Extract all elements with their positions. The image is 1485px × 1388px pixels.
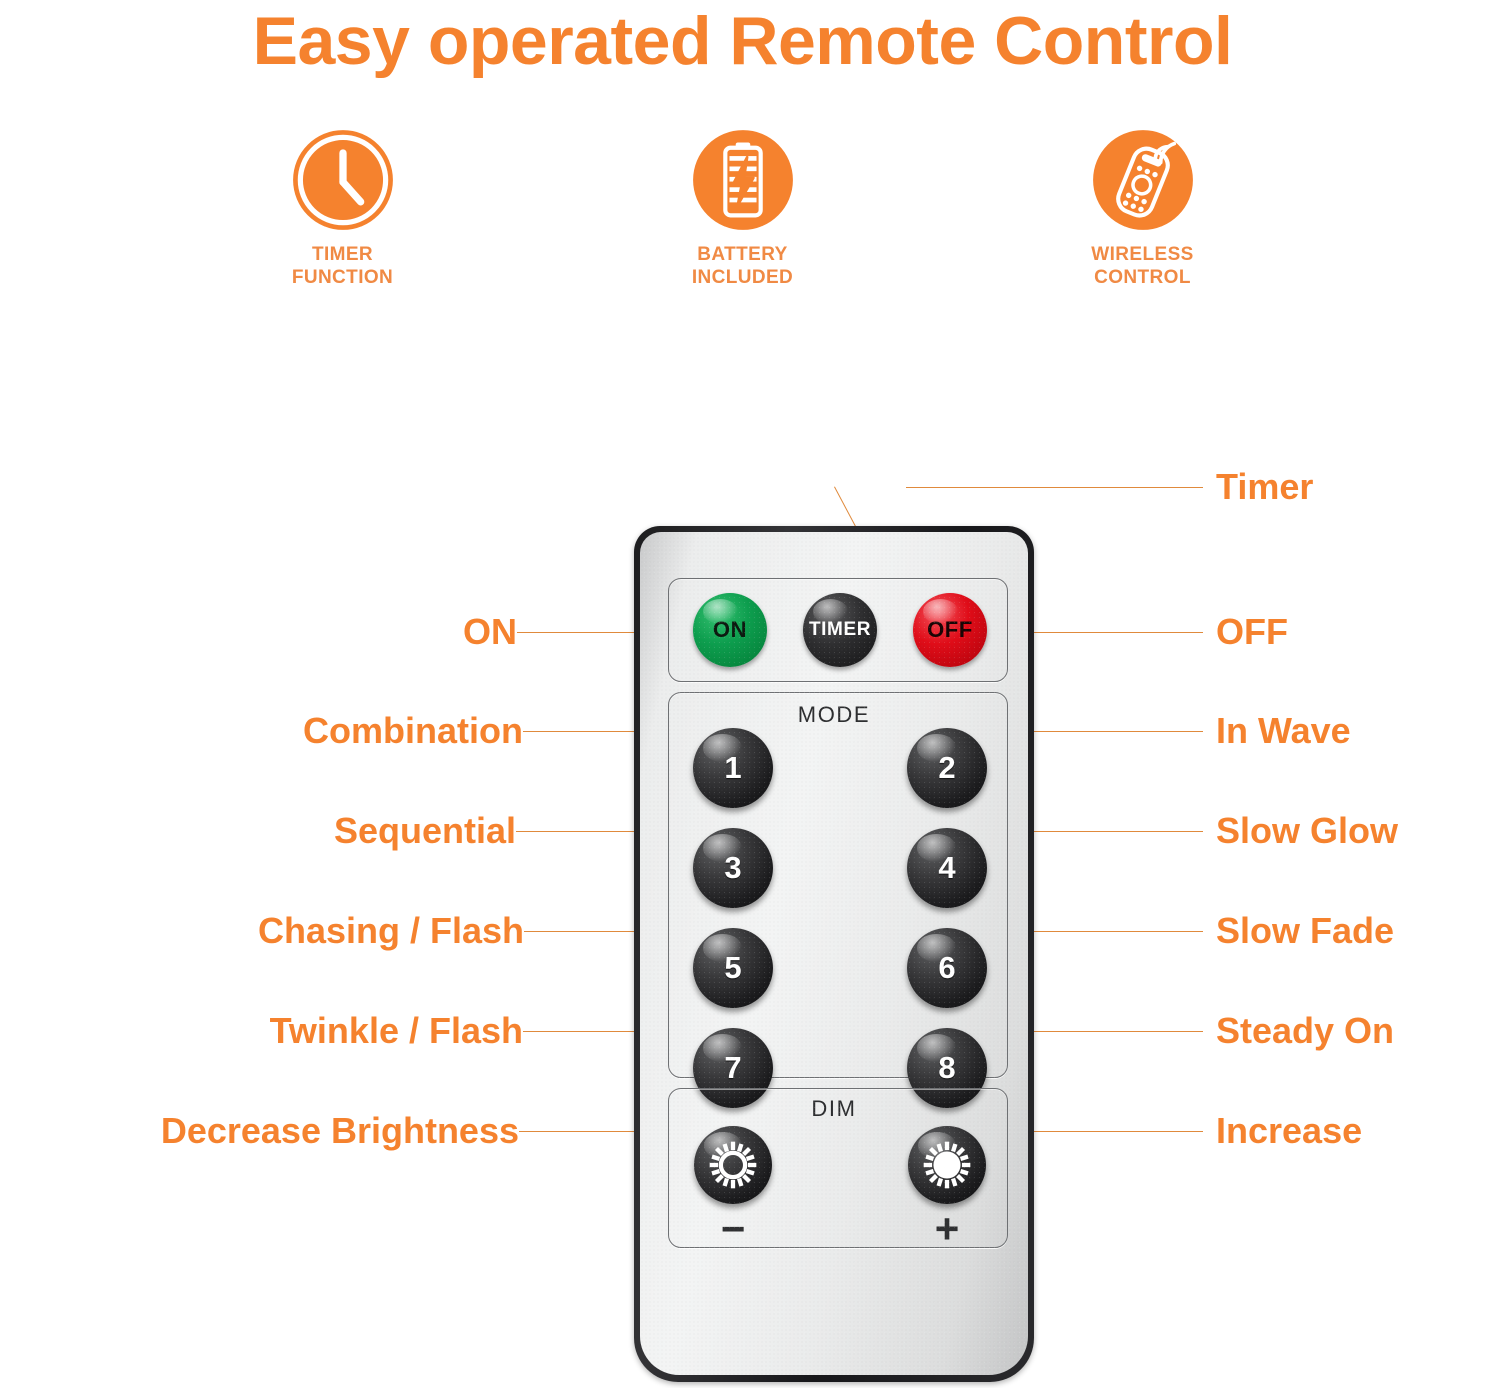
mode-button-1-label: 1 <box>724 750 741 786</box>
mode-button-4-label: 4 <box>938 850 955 886</box>
callout-slow-fade: Slow Fade <box>1216 910 1394 952</box>
callout-combination: Combination <box>303 710 523 752</box>
off-button[interactable]: OFF <box>913 593 987 667</box>
feature-badge-battery-label: BATTERY INCLUDED <box>692 243 793 289</box>
mode-button-5[interactable]: 5 <box>693 928 773 1008</box>
callout-off: OFF <box>1216 611 1288 653</box>
remote-signal-icon <box>1091 128 1195 232</box>
brightness-low-icon <box>705 1137 761 1193</box>
feature-badge-timer: TIMER FUNCTION <box>243 128 443 289</box>
callout-twinkle-flash: Twinkle / Flash <box>270 1010 523 1052</box>
feature-badge-wireless-label: WIRELESS CONTROL <box>1091 243 1193 289</box>
feature-badge-row: TIMER FUNCTION BATTERY INCLUDED <box>0 128 1485 289</box>
feature-badge-timer-line2: FUNCTION <box>292 266 393 289</box>
feature-badge-battery-line1: BATTERY <box>692 243 793 266</box>
feature-badge-timer-label: TIMER FUNCTION <box>292 243 393 289</box>
on-button-label: ON <box>713 617 747 643</box>
timer-button[interactable]: TIMER <box>803 593 877 667</box>
timer-button-label: TIMER <box>809 619 871 641</box>
callout-timer: Timer <box>1216 466 1313 508</box>
callout-in-wave: In Wave <box>1216 710 1351 752</box>
infographic-page: Easy operated Remote Control TIMER FUNCT… <box>0 0 1485 1388</box>
callout-decrease-brightness: Decrease Brightness <box>161 1110 519 1152</box>
brightness-high-icon <box>919 1137 975 1193</box>
on-button[interactable]: ON <box>693 593 767 667</box>
feature-badge-timer-line1: TIMER <box>292 243 393 266</box>
leader-line-timer <box>906 487 1203 488</box>
remote-faceplate: ON TIMER OFF MODE 1 2 3 4 <box>640 532 1028 1375</box>
mode-button-3[interactable]: 3 <box>693 828 773 908</box>
mode-button-8-label: 8 <box>938 1050 955 1086</box>
off-button-label: OFF <box>927 617 973 643</box>
clock-icon <box>291 128 395 232</box>
dim-caption: DIM <box>640 1096 1028 1122</box>
callout-on: ON <box>463 611 517 653</box>
mode-button-6[interactable]: 6 <box>907 928 987 1008</box>
callout-slow-glow: Slow Glow <box>1216 810 1398 852</box>
callout-increase: Increase <box>1216 1110 1362 1152</box>
mode-button-5-label: 5 <box>724 950 741 986</box>
mode-button-4[interactable]: 4 <box>907 828 987 908</box>
mode-button-2-label: 2 <box>938 750 955 786</box>
dim-increase-button[interactable] <box>908 1126 986 1204</box>
mode-button-6-label: 6 <box>938 950 955 986</box>
callout-sequential: Sequential <box>334 810 516 852</box>
callout-chasing-flash: Chasing / Flash <box>258 910 524 952</box>
dim-decrease-button[interactable] <box>694 1126 772 1204</box>
feature-badge-wireless: WIRELESS CONTROL <box>1043 128 1243 289</box>
mode-button-2[interactable]: 2 <box>907 728 987 808</box>
mode-button-1[interactable]: 1 <box>693 728 773 808</box>
page-title: Easy operated Remote Control <box>0 2 1485 80</box>
mode-button-7-label: 7 <box>724 1050 741 1086</box>
feature-badge-battery-line2: INCLUDED <box>692 266 793 289</box>
mode-button-3-label: 3 <box>724 850 741 886</box>
feature-badge-battery: BATTERY INCLUDED <box>643 128 843 289</box>
dim-plus-sign: + <box>907 1208 987 1250</box>
battery-icon <box>691 128 795 232</box>
callout-steady-on: Steady On <box>1216 1010 1394 1052</box>
feature-badge-wireless-line2: CONTROL <box>1091 266 1193 289</box>
mode-caption: MODE <box>640 702 1028 728</box>
remote-control-device: ON TIMER OFF MODE 1 2 3 4 <box>634 526 1034 1382</box>
dim-minus-sign: − <box>693 1208 773 1250</box>
feature-badge-wireless-line1: WIRELESS <box>1091 243 1193 266</box>
